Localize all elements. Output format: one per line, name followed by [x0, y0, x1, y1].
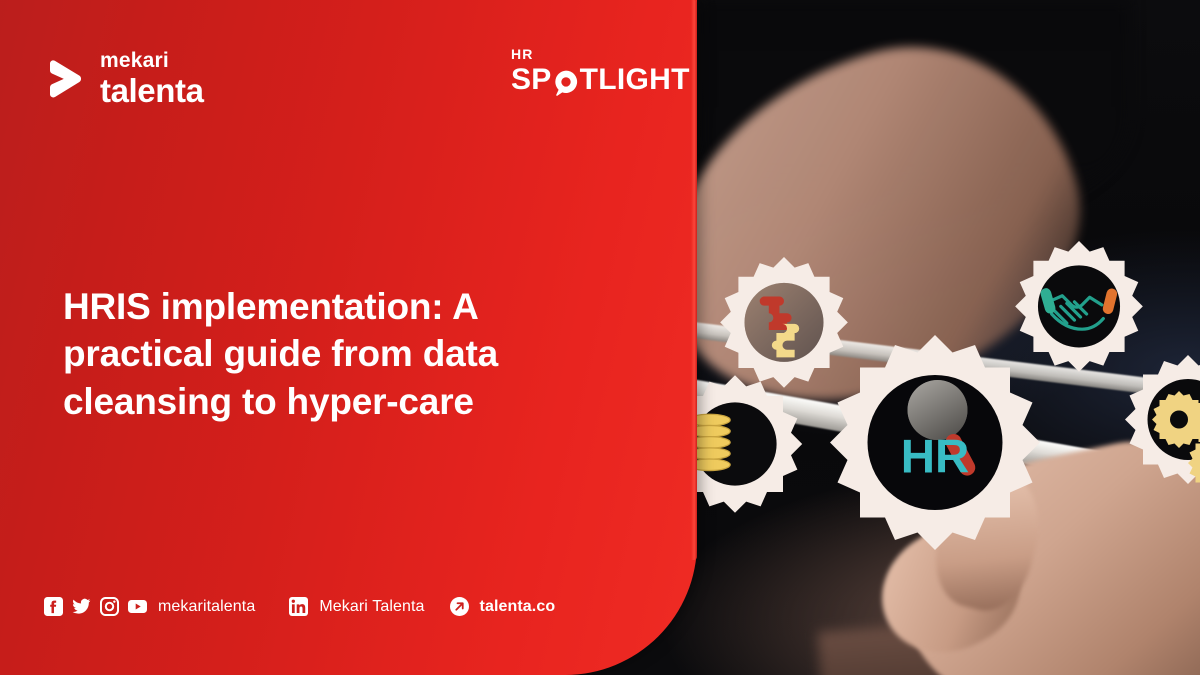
logo-talenta-text: talenta: [100, 74, 204, 107]
linkedin-icon[interactable]: [289, 597, 308, 616]
social-icon-group: [44, 597, 147, 616]
hr-spotlight-logo: HR SP TLIGHT: [511, 47, 690, 95]
mekari-talenta-logo[interactable]: mekari talenta: [46, 50, 204, 107]
linkedin-handle: Mekari Talenta: [319, 598, 424, 616]
logo-mekari-text: mekari: [100, 50, 204, 71]
hr-spotlight-eyebrow: HR: [511, 47, 690, 61]
youtube-icon[interactable]: [128, 597, 147, 616]
social-share-card: HR mekari talenta HR SP TLIGHT: [0, 0, 1200, 675]
facebook-icon[interactable]: [44, 597, 63, 616]
website-label: talenta.co: [480, 598, 556, 616]
gear-hr-magnifier: HR: [810, 330, 1060, 580]
spotlight-text-before: SP: [511, 65, 552, 95]
linkedin-group: Mekari Talenta: [289, 597, 424, 616]
gear-hr-label: HR: [901, 431, 970, 484]
hr-spotlight-wordmark: SP TLIGHT: [511, 65, 690, 95]
website-group[interactable]: talenta.co: [450, 597, 556, 616]
gear-gears: [1113, 352, 1200, 502]
mekari-chevron-icon: [46, 59, 84, 99]
spotlight-text-after: TLIGHT: [580, 65, 690, 95]
social-handle: mekaritalenta: [158, 598, 255, 616]
arrow-up-right-circle-icon: [450, 597, 469, 616]
twitter-icon[interactable]: [72, 597, 91, 616]
spotlight-o-icon: [553, 70, 579, 96]
red-panel-edge-highlight: [691, 0, 697, 560]
footer-social-bar: mekaritalenta Mekari Talenta: [44, 597, 555, 616]
instagram-icon[interactable]: [100, 597, 119, 616]
page-title: HRIS implementation: A practical guide f…: [63, 283, 583, 425]
